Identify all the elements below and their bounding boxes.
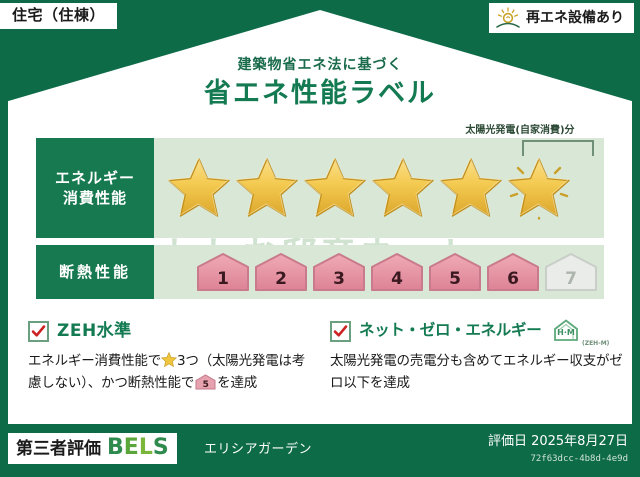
insulation-performance-key: 断熱性能 [36, 245, 154, 299]
insulation-key-label: 断熱性能 [59, 262, 131, 282]
solar-bracket [522, 140, 594, 156]
insulation-level-house: 3 [312, 252, 366, 292]
insulation-level-number: 1 [196, 271, 250, 288]
bels-letter-s: S [153, 435, 169, 460]
evaluation-date: 評価日 2025年8月27日 [488, 435, 628, 449]
solar-self-consumption-caption: 太陽光発電(自家消費)分 [440, 121, 600, 136]
bels-logo: BELS [107, 437, 169, 459]
building-type-chip: 住宅（住棟） [0, 3, 117, 29]
evaluation-date-label: 評価日 [488, 434, 527, 449]
label-subtitle: 建築物省エネ法に基づく [0, 58, 640, 73]
star-icon [234, 156, 300, 220]
inline-insulation-badge: 5 [195, 374, 216, 390]
energy-star-rating [154, 156, 604, 220]
energy-key-line2: 消費性能 [63, 188, 127, 208]
sun-icon [495, 7, 521, 29]
third-party-eval-label: 第三者評価 [16, 441, 101, 458]
label-footer: 第三者評価 BELS エリシアガーデン 評価日 2025年8月27日 72f63… [0, 425, 640, 477]
insulation-level-house: 7 [544, 252, 598, 292]
insulation-performance-value: 1 2 3 4 5 6 7 [154, 245, 604, 299]
net-zero-criteria-body: 太陽光発電の売電分も含めてエネルギー収支がゼロ以下を達成 [330, 351, 626, 395]
renewable-equipment-badge: 再エネ設備あり [489, 3, 634, 33]
zeh-checkbox [28, 321, 49, 342]
insulation-level-house: 6 [486, 252, 540, 292]
net-zero-criteria-header: ネット・ゼロ・エネルギー H·M (ZEH-M) [330, 318, 626, 344]
inline-badge-value: 5 [195, 381, 216, 390]
solar-star-icon [506, 156, 572, 220]
insulation-level-number: 4 [370, 271, 424, 288]
zeh-body-part3: を達成 [217, 375, 257, 391]
energy-performance-key: エネルギー 消費性能 [36, 138, 154, 238]
insulation-level-number: 2 [254, 271, 308, 288]
energy-performance-label: 住宅（住棟） 再エネ設備あり 建築物省エネ法に基づく 省エネ性能ラベル [0, 0, 640, 477]
net-zero-energy-criteria-block: ネット・ゼロ・エネルギー H·M (ZEH-M) 太陽光発電の売電分も含めてエネ… [330, 318, 626, 395]
star-icon [438, 156, 504, 220]
insulation-performance-row: 断熱性能 1 2 3 4 5 6 [36, 245, 604, 299]
building-name: エリシアガーデン [204, 443, 312, 456]
energy-key-line1: エネルギー [55, 168, 135, 188]
label-title-block: 建築物省エネ法に基づく 省エネ性能ラベル [0, 58, 640, 109]
insulation-level-number: 6 [486, 271, 540, 288]
energy-performance-row: エネルギー 消費性能 太陽光発電(自家消費)分 [36, 138, 604, 238]
bels-evaluation-chip: 第三者評価 BELS [8, 433, 177, 464]
star-icon [302, 156, 368, 220]
zeh-criteria-block: ZEH水準 エネルギー消費性能で3つ（太陽光発電は考慮しない）、かつ断熱性能で5… [28, 318, 318, 395]
bels-letter-l: L [139, 435, 153, 460]
zeh-m-logo-icon: H·M (ZEH-M) [551, 318, 591, 344]
zeh-criteria-title: ZEH水準 [57, 323, 132, 340]
zeh-body-part1: エネルギー消費性能で [28, 353, 161, 369]
bels-letter-e: E [124, 435, 139, 460]
evaluation-date-value: 2025年8月27日 [531, 434, 628, 449]
net-zero-criteria-title: ネット・ゼロ・エネルギー [359, 323, 541, 339]
insulation-level-house: 1 [196, 252, 250, 292]
label-main-title: 省エネ性能ラベル [0, 80, 640, 108]
zeh-criteria-body: エネルギー消費性能で3つ（太陽光発電は考慮しない）、かつ断熱性能で5を達成 [28, 351, 318, 395]
insulation-level-number: 7 [544, 271, 598, 288]
zeh-criteria-header: ZEH水準 [28, 318, 318, 344]
net-zero-checkbox [330, 321, 351, 342]
star-icon [370, 156, 436, 220]
insulation-level-scale: 1 2 3 4 5 6 7 [154, 252, 598, 292]
insulation-level-house: 5 [428, 252, 482, 292]
insulation-level-house: 2 [254, 252, 308, 292]
insulation-level-house: 4 [370, 252, 424, 292]
insulation-level-number: 3 [312, 271, 366, 288]
svg-text:H·M: H·M [558, 328, 576, 337]
evaluation-id: 72f63dcc-4b8d-4e9d [530, 455, 628, 464]
inline-star-icon [161, 352, 177, 367]
insulation-level-number: 5 [428, 271, 482, 288]
building-type-text: 住宅（住棟） [12, 6, 105, 24]
energy-performance-value: 太陽光発電(自家消費)分 [154, 138, 604, 238]
renewable-badge-text: 再エネ設備あり [526, 11, 624, 25]
star-icon [166, 156, 232, 220]
zeh-m-logo-caption: (ZEH-M) [582, 340, 609, 347]
bels-letter-b: B [107, 435, 124, 460]
